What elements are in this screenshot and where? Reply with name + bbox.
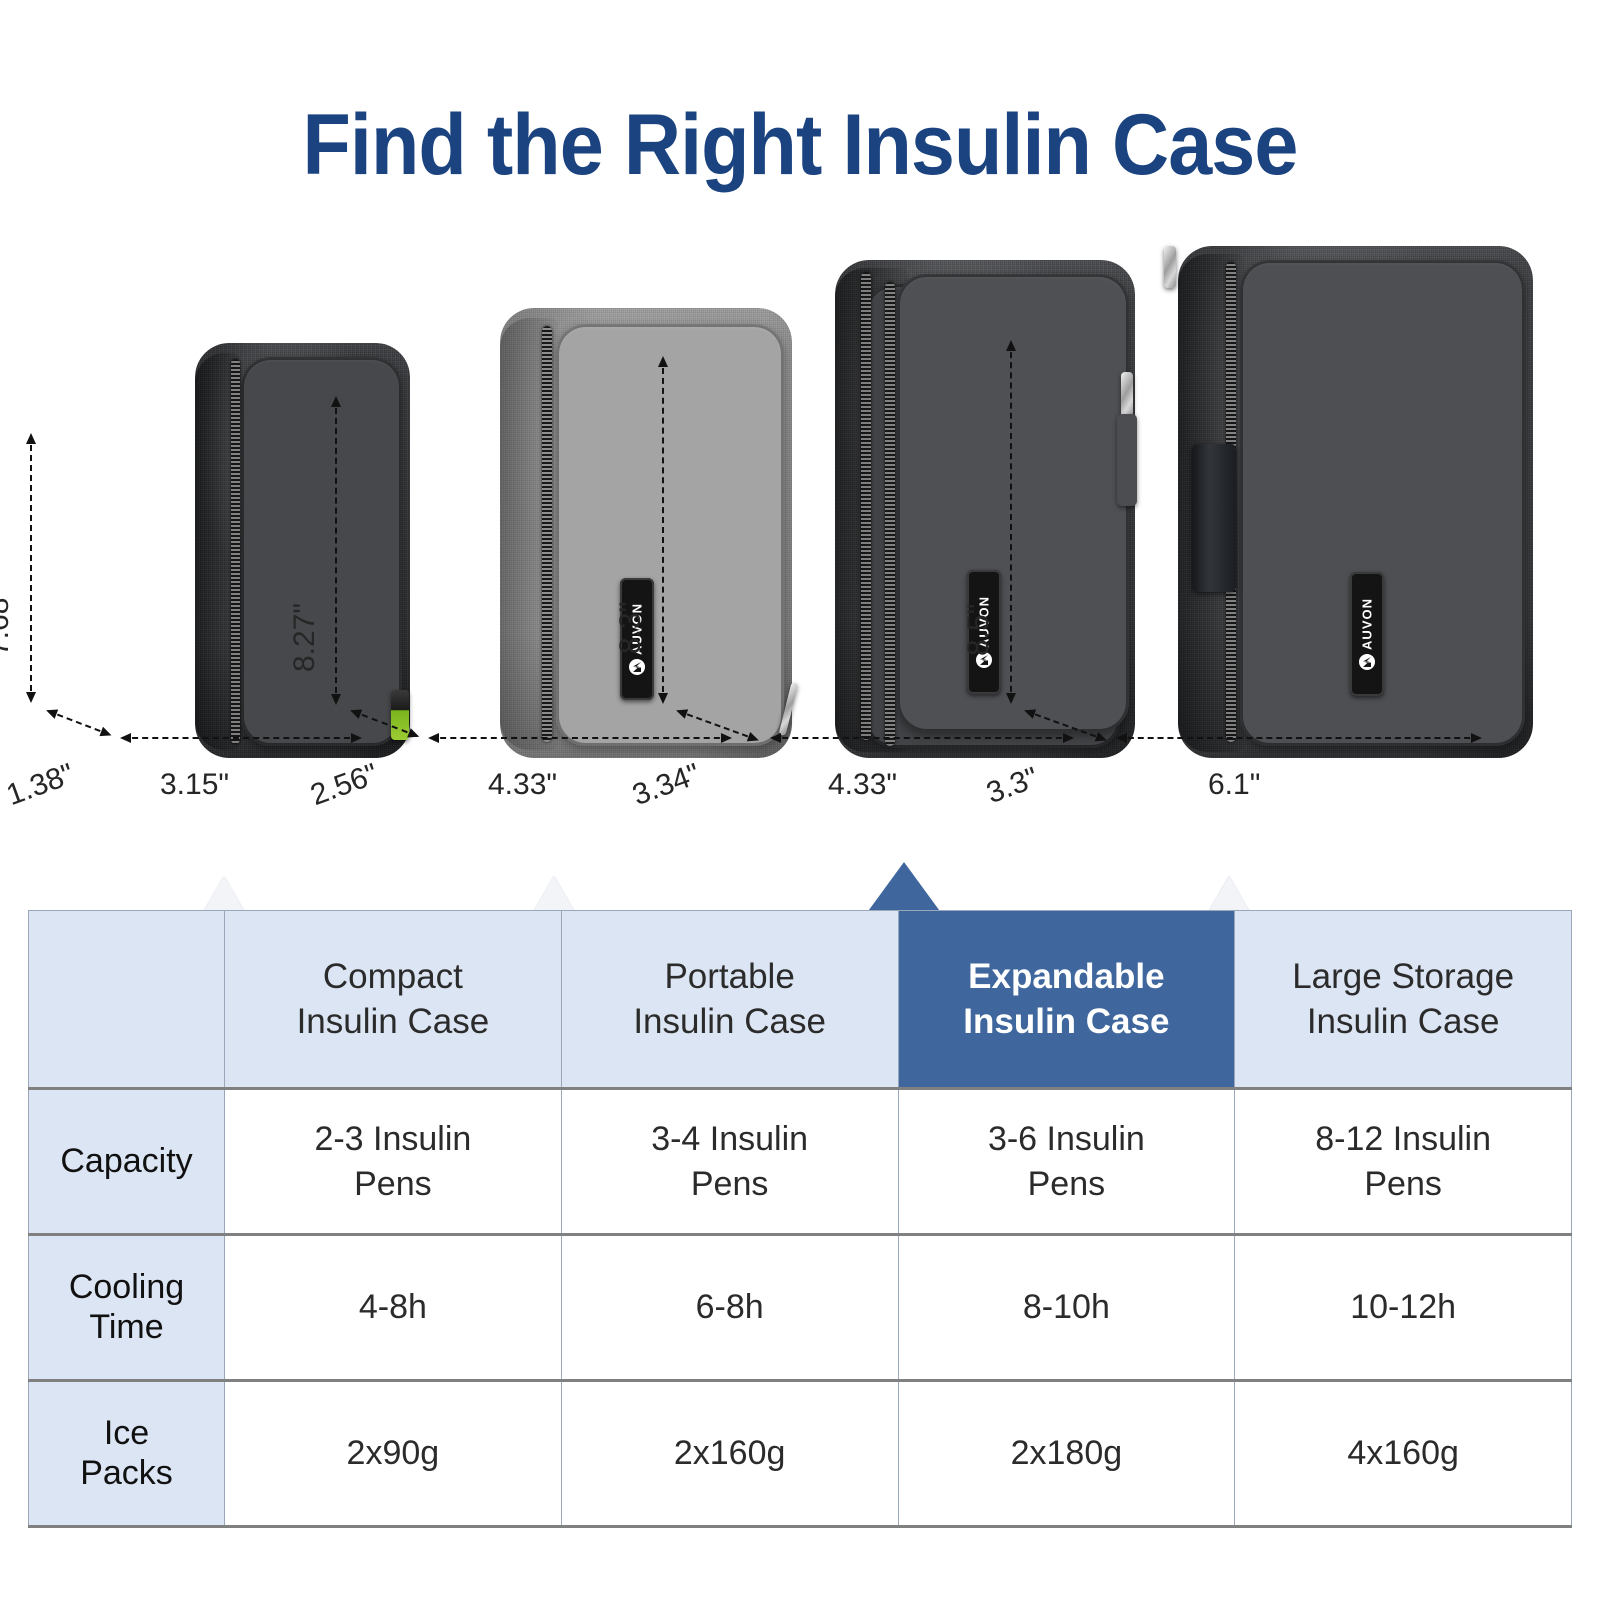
cell-line1: 4x160g	[1235, 1431, 1571, 1475]
table-row-cooling-time: Cooling Time 4-8h 6-8h 8-10h 10-12h	[29, 1235, 1572, 1381]
comparison-table: Compact Insulin Case Portable Insulin Ca…	[28, 910, 1572, 1528]
dimension-line-width-4	[1118, 737, 1480, 739]
dimension-line-width-3	[772, 737, 1072, 739]
column-pointer-large-storage	[1207, 876, 1251, 914]
dimension-line-width-1	[122, 737, 360, 739]
column-header-expandable[interactable]: Expandable Insulin Case	[898, 911, 1235, 1089]
column-header-line2: Insulin Case	[572, 999, 888, 1045]
cell-line1: 2-3 Insulin	[225, 1117, 561, 1161]
case-body-portable: AUVON	[500, 308, 792, 758]
cell-line1: 2x180g	[899, 1431, 1235, 1475]
cell-line1: 3-6 Insulin	[899, 1117, 1235, 1161]
column-header-line1: Large Storage	[1245, 954, 1561, 1000]
column-header-line2: Insulin Case	[235, 999, 551, 1045]
row-label-ice-packs: Ice Packs	[29, 1381, 225, 1527]
dimension-label-depth-2: 2.56"	[306, 757, 383, 813]
dimension-label-height-1: 7.68"	[0, 587, 16, 656]
column-pointer-expandable	[866, 862, 942, 914]
cell-capacity-compact: 2-3 Insulin Pens	[225, 1089, 562, 1235]
cell-ice-packs-portable: 2x160g	[561, 1381, 898, 1527]
brand-label: AUVON	[1360, 598, 1375, 650]
cell-line1: 2x90g	[225, 1431, 561, 1475]
dimension-label-depth-1: 1.38"	[2, 757, 79, 813]
dimension-label-height-4: 8.5"	[962, 604, 996, 656]
column-header-line1: Compact	[235, 954, 551, 1000]
cell-line1: 8-12 Insulin	[1235, 1117, 1571, 1161]
cell-line1: 3-4 Insulin	[562, 1117, 898, 1161]
cell-line1: 2x160g	[562, 1431, 898, 1475]
column-header-line1: Expandable	[909, 954, 1225, 1000]
column-header-compact[interactable]: Compact Insulin Case	[225, 911, 562, 1089]
zipper-pull-expandable	[1121, 372, 1133, 418]
dimension-line-height-4	[1010, 342, 1012, 702]
dimension-label-height-2: 8.27"	[288, 603, 322, 672]
column-header-portable[interactable]: Portable Insulin Case	[561, 911, 898, 1089]
cell-line2: Pens	[899, 1162, 1235, 1206]
cell-ice-packs-compact: 2x90g	[225, 1381, 562, 1527]
dimension-label-depth-3: 3.34"	[628, 757, 705, 813]
cell-cooling-compact: 4-8h	[225, 1235, 562, 1381]
column-header-line2: Insulin Case	[909, 999, 1225, 1045]
dimension-label-height-3: 8.3"	[614, 602, 648, 654]
table-row-ice-packs: Ice Packs 2x90g 2x160g 2x180g 4x160g	[29, 1381, 1572, 1527]
column-header-large-storage[interactable]: Large Storage Insulin Case	[1235, 911, 1572, 1089]
carry-handle	[1192, 444, 1236, 592]
zipper-track	[542, 326, 552, 742]
page-title: Find the Right Insulin Case	[64, 96, 1536, 195]
row-label-line2: Time	[29, 1308, 224, 1347]
cell-line1: 6-8h	[562, 1285, 898, 1329]
cell-line1: 4-8h	[225, 1285, 561, 1329]
row-label-line1: Cooling	[29, 1268, 224, 1307]
cell-capacity-expandable: 3-6 Insulin Pens	[898, 1089, 1235, 1235]
product-showcase: AUVON AUVON	[0, 250, 1600, 850]
dimension-line-height-3	[662, 358, 664, 702]
auvon-logo-icon	[1359, 654, 1375, 670]
column-header-line2: Insulin Case	[1245, 999, 1561, 1045]
lid-panel	[241, 357, 402, 746]
cell-ice-packs-expandable: 2x180g	[898, 1381, 1235, 1527]
row-label-line1: Ice	[29, 1414, 224, 1453]
cell-line2: Pens	[225, 1162, 561, 1206]
row-label-capacity: Capacity	[29, 1089, 225, 1235]
zipper-track-lower	[885, 282, 895, 746]
dimension-label-width-1: 3.15"	[160, 768, 229, 802]
zipper-track	[231, 359, 240, 744]
case-body-large: AUVON	[1178, 246, 1533, 758]
cell-cooling-expandable: 8-10h	[898, 1235, 1235, 1381]
row-label-cooling-time: Cooling Time	[29, 1235, 225, 1381]
cell-line1: 10-12h	[1235, 1285, 1571, 1329]
cell-capacity-portable: 3-4 Insulin Pens	[561, 1089, 898, 1235]
dimension-line-height-1	[30, 435, 32, 701]
table-header-row: Compact Insulin Case Portable Insulin Ca…	[29, 911, 1572, 1089]
cell-line2: Pens	[1235, 1162, 1571, 1206]
dimension-label-depth-4: 3.3"	[982, 761, 1043, 811]
column-pointer-portable	[532, 876, 576, 914]
table-row-capacity: Capacity 2-3 Insulin Pens 3-4 Insulin Pe…	[29, 1089, 1572, 1235]
cell-capacity-large-storage: 8-12 Insulin Pens	[1235, 1089, 1572, 1235]
dimension-label-width-3: 4.33"	[828, 768, 897, 802]
case-body-expandable: AUVON	[835, 260, 1135, 758]
cell-ice-packs-large-storage: 4x160g	[1235, 1381, 1572, 1527]
dimension-label-width-2: 4.33"	[488, 768, 557, 802]
row-label-line2: Packs	[29, 1454, 224, 1493]
zipper-strap-expandable	[1117, 414, 1137, 506]
column-pointer-compact	[202, 876, 246, 914]
dimension-line-depth-1	[48, 710, 110, 736]
cell-line2: Pens	[562, 1162, 898, 1206]
cell-cooling-portable: 6-8h	[561, 1235, 898, 1381]
case-body-compact	[195, 343, 410, 758]
dimension-label-width-4: 6.1"	[1208, 768, 1260, 802]
auvon-logo-icon	[629, 659, 645, 675]
table-corner-cell	[29, 911, 225, 1089]
zipper-track-upper	[861, 272, 871, 740]
dimension-line-width-2	[430, 737, 730, 739]
zipper-pull-large	[1164, 246, 1176, 288]
cell-line1: 8-10h	[899, 1285, 1235, 1329]
column-header-line1: Portable	[572, 954, 888, 1000]
row-label-line1: Capacity	[29, 1142, 224, 1181]
brand-badge: AUVON	[1350, 572, 1384, 696]
lid-panel	[556, 324, 784, 746]
dimension-line-height-2	[335, 398, 337, 703]
cell-cooling-large-storage: 10-12h	[1235, 1235, 1572, 1381]
